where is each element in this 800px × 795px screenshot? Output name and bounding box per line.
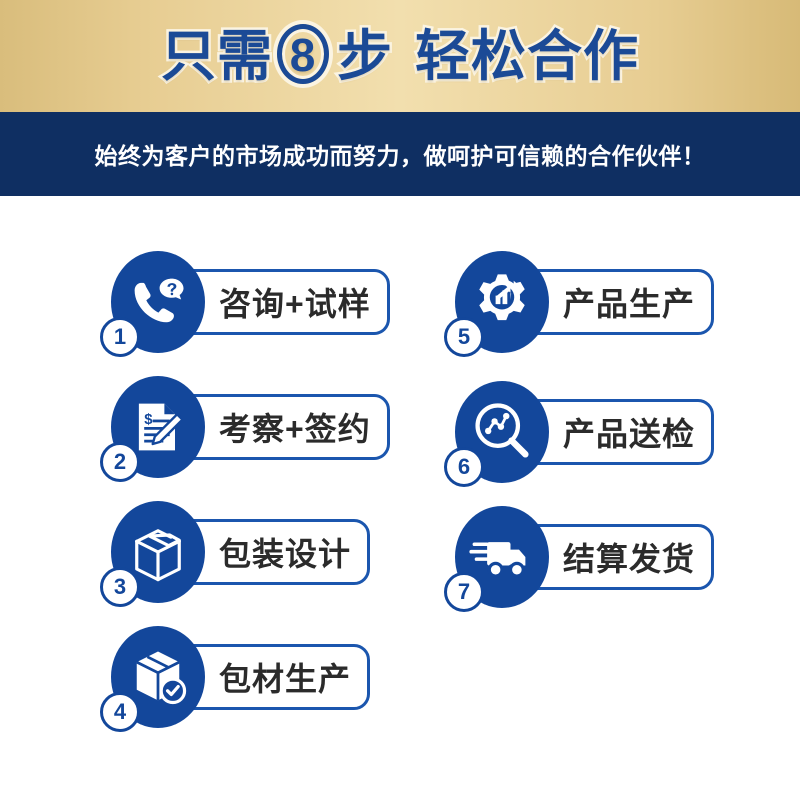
step-label: 产品生产 bbox=[563, 279, 695, 325]
step-item[interactable]: 包装设计 3 bbox=[0, 494, 400, 619]
step-label: 产品送检 bbox=[563, 409, 695, 455]
step-number-badge: 2 bbox=[100, 442, 140, 482]
step-number-badge: 7 bbox=[444, 572, 484, 612]
step-item[interactable]: 考察+签约 $ bbox=[0, 369, 400, 494]
steps-section: 咨询+试样 1 考察+签约 bbox=[0, 196, 800, 795]
step-item[interactable]: 咨询+试样 1 bbox=[0, 244, 400, 369]
step-number-badge: 3 bbox=[100, 567, 140, 607]
step-number-badge: 1 bbox=[100, 317, 140, 357]
page-title-part-1: 只需 bbox=[161, 29, 273, 84]
step-number: 2 bbox=[114, 449, 126, 475]
step-label: 包装设计 bbox=[219, 529, 351, 575]
circled-eight-icon: 8 bbox=[275, 26, 335, 86]
step-label: 包材生产 bbox=[219, 654, 351, 700]
step-item[interactable]: 产品生产 5 bbox=[400, 244, 800, 369]
steps-left-column: 咨询+试样 1 考察+签约 bbox=[0, 196, 400, 795]
step-number: 7 bbox=[458, 579, 470, 605]
step-number: 6 bbox=[458, 454, 470, 480]
poster-root: 只需 8 步 轻松合作 始终为客户的市场成功而努力，做呵护可信赖的合作伙伴！ 咨… bbox=[0, 0, 800, 795]
page-title-part-3: 轻松合作 bbox=[415, 29, 639, 84]
step-number: 5 bbox=[458, 324, 470, 350]
step-number: 1 bbox=[114, 324, 126, 350]
step-label: 咨询+试样 bbox=[219, 279, 371, 325]
steps-right-column: 产品生产 5 bbox=[400, 196, 800, 795]
page-subtitle: 始终为客户的市场成功而努力，做呵护可信赖的合作伙伴！ bbox=[95, 137, 706, 171]
header-subtitle-band: 始终为客户的市场成功而努力，做呵护可信赖的合作伙伴！ bbox=[0, 112, 800, 196]
step-label: 考察+签约 bbox=[219, 404, 371, 450]
step-number-badge: 6 bbox=[444, 447, 484, 487]
header-gold-band: 只需 8 步 轻松合作 bbox=[0, 0, 800, 112]
step-number-badge: 5 bbox=[444, 317, 484, 357]
page-title: 只需 8 步 轻松合作 bbox=[0, 0, 800, 112]
step-number-badge: 4 bbox=[100, 692, 140, 732]
page-title-part-2: 步 bbox=[337, 29, 393, 84]
step-item[interactable]: 结算发货 7 bbox=[400, 499, 800, 624]
step-number: 4 bbox=[114, 699, 126, 725]
step-item[interactable]: 产品送检 6 bbox=[400, 374, 800, 499]
step-item[interactable]: 包材生产 4 bbox=[0, 619, 400, 744]
step-number: 3 bbox=[114, 574, 126, 600]
step-label: 结算发货 bbox=[563, 534, 695, 580]
circled-eight-number: 8 bbox=[275, 25, 331, 85]
